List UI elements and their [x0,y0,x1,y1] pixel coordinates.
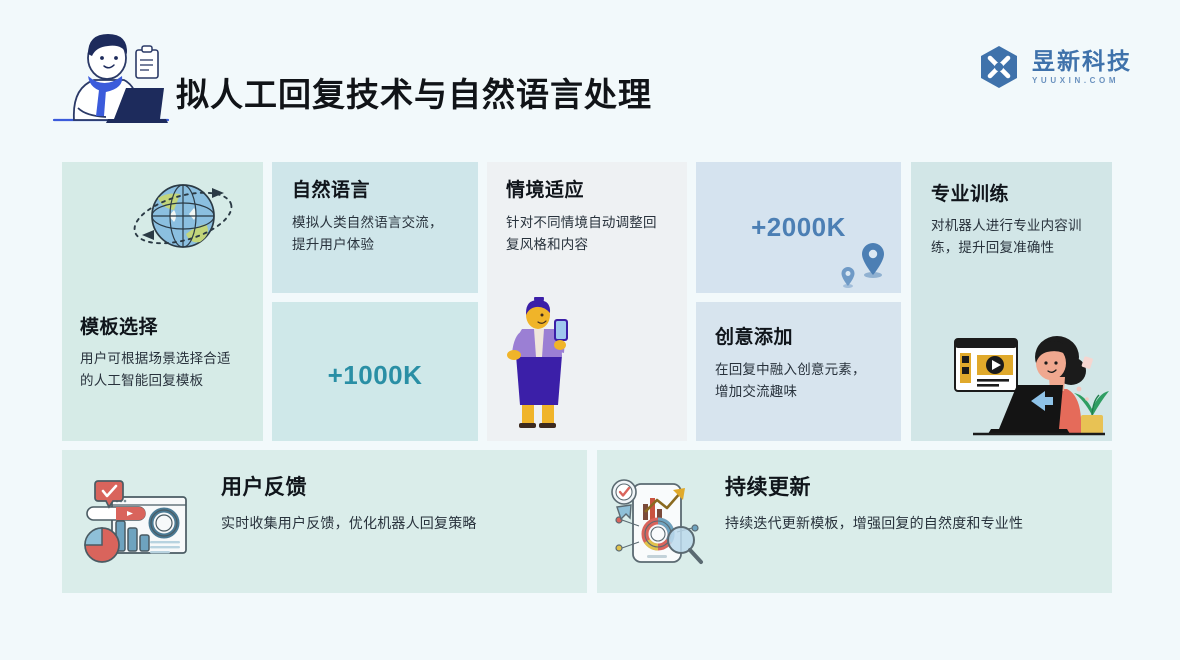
woman-at-laptop-illustration [933,329,1111,441]
card-professional-training[interactable]: 专业训练 对机器人进行专业内容训 练，提升回复准确性 [911,162,1112,441]
card-stat-2000k[interactable]: +2000K [696,162,901,293]
page-title: 拟人工回复技术与自然语言处理 [176,68,652,116]
map-pin-icon [835,231,891,289]
card-description: 持续迭代更新模板，增强回复的自然度和专业性 [725,512,1023,535]
card-description: 在回复中融入创意元素， 增加交流趣味 [715,359,891,403]
analytics-dashboard-icon [74,479,192,567]
mobile-analytics-award-icon [607,476,713,569]
card-title: 情境适应 [506,180,584,203]
brand-name: 昱新科技 [1032,49,1132,73]
card-stat-1000k[interactable]: +1000K [272,302,478,441]
card-description: 用户可根据场景选择合适 的人工智能回复模板 [80,348,252,392]
card-title: 用户反馈 [221,475,307,500]
card-title: 自然语言 [292,180,370,203]
stat-value: +1000K [272,360,478,391]
woman-with-phone-illustration [492,297,588,439]
card-user-feedback[interactable]: 用户反馈 实时收集用户反馈，优化机器人回复策略 [62,450,587,593]
infographic-page: 拟人工回复技术与自然语言处理 昱新科技 YUUXIN.COM [0,0,1180,660]
brand-logo[interactable]: 昱新科技 YUUXIN.COM [976,44,1132,90]
card-natural-language[interactable]: 自然语言 模拟人类自然语言交流， 提升用户体验 [272,162,478,293]
page-header: 拟人工回复技术与自然语言处理 昱新科技 YUUXIN.COM [0,0,1180,150]
globe-orbit-icon [128,172,238,264]
card-template-selection[interactable]: 模板选择 用户可根据场景选择合适 的人工智能回复模板 [62,162,263,441]
card-description: 对机器人进行专业内容训 练，提升回复准确性 [931,215,1103,259]
card-context-adaptation[interactable]: 情境适应 针对不同情境自动调整回 复风格和内容 [487,162,687,441]
card-title: 专业训练 [931,184,1009,207]
card-description: 模拟人类自然语言交流， 提升用户体验 [292,212,468,256]
card-title: 模板选择 [80,317,158,340]
card-continuous-update[interactable]: 持续更新 持续迭代更新模板，增强回复的自然度和专业性 [597,450,1112,593]
card-title: 持续更新 [725,475,811,500]
card-description: 实时收集用户反馈，优化机器人回复策略 [221,512,477,535]
person-at-laptop-illustration [52,20,170,128]
card-title: 创意添加 [715,327,793,350]
card-creative-addition[interactable]: 创意添加 在回复中融入创意元素， 增加交流趣味 [696,302,901,441]
brand-domain: YUUXIN.COM [1032,76,1132,85]
hexagon-x-logo-icon [976,44,1022,90]
card-description: 针对不同情境自动调整回 复风格和内容 [506,212,678,256]
